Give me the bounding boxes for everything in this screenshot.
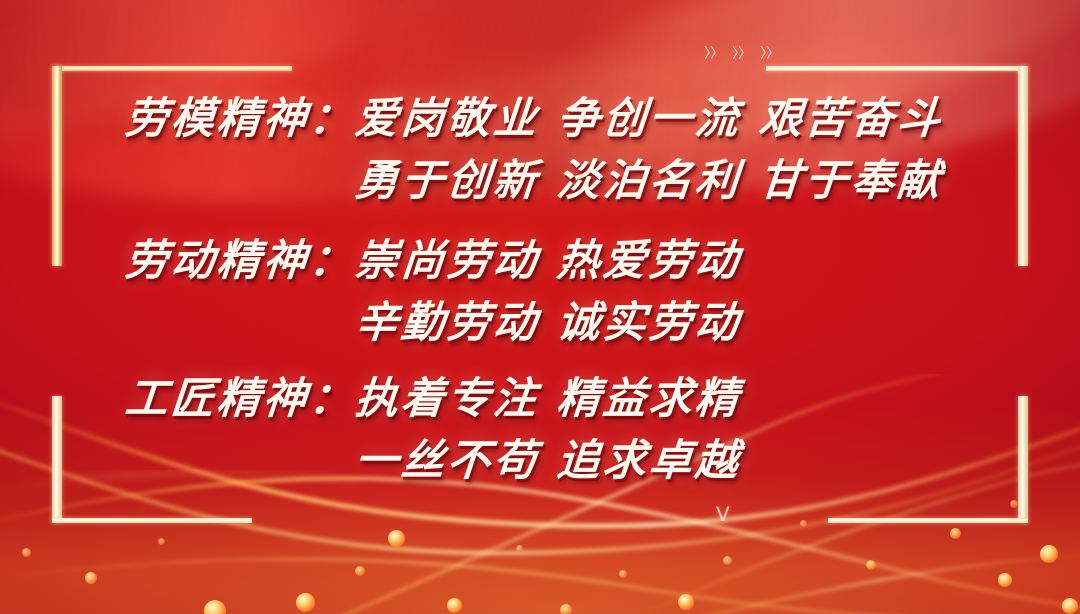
- poster-canvas: 〉〉 〉〉 〉〉 ᐯ 劳模精神：爱岗敬业 争创一流 艰苦奋斗 勇于创新 淡泊名利…: [0, 0, 1080, 614]
- verse-line-laodong-top: 劳动精神：崇尚劳动 热爱劳动: [123, 240, 743, 283]
- verse-line-laomo-bottom: 勇于创新 淡泊名利 甘于奉献: [353, 160, 945, 203]
- verse-text-block: 劳模精神：爱岗敬业 争创一流 艰苦奋斗 勇于创新 淡泊名利 甘于奉献 劳动精神：…: [0, 0, 1080, 614]
- verse-line-laodong-bottom: 辛勤劳动 诚实劳动: [353, 302, 743, 345]
- verse-line-gongjiang-bottom: 一丝不苟 追求卓越: [353, 440, 743, 483]
- verse-line-gongjiang-top: 工匠精神：执着专注 精益求精: [123, 378, 743, 421]
- verse-line-laomo-top: 劳模精神：爱岗敬业 争创一流 艰苦奋斗: [123, 98, 945, 141]
